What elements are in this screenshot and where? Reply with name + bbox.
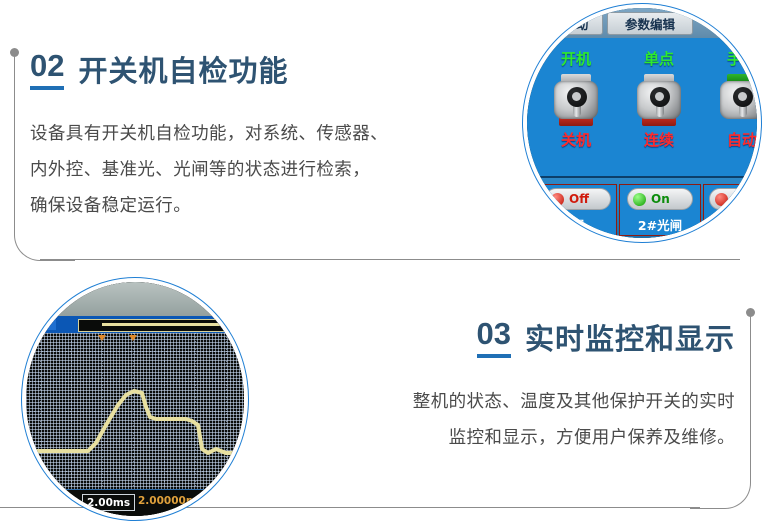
panel-switch-0[interactable]: 开机 关机 [543, 48, 609, 150]
section-03-title: 实时监控和显示 [525, 326, 735, 358]
panel-button-0-pill: Off [545, 188, 611, 210]
panel-button-2[interactable] [703, 184, 757, 236]
panel-button-2-pill [709, 188, 757, 210]
panel-switch-0-on-label: 开机 [543, 48, 609, 69]
panel-switch-2-off-label: 自动 [709, 129, 757, 150]
scope-timebase: 2.00ms [82, 494, 135, 511]
scope-time-value: 2.00000ms [138, 495, 203, 507]
panel-tab-0[interactable]: 动 [561, 12, 603, 35]
led-green-icon [633, 193, 646, 206]
control-panel-photo: 动 参数编辑 开机 关机 单点 [527, 8, 757, 238]
panel-switch-0-off-label: 关机 [543, 129, 609, 150]
panel-switch-2-on-label: 手动 [709, 48, 757, 69]
scope-overview-trace [102, 323, 222, 326]
control-panel-screen: 动 参数编辑 开机 关机 单点 [527, 8, 757, 238]
led-red-icon [715, 193, 728, 206]
toggle-body [554, 81, 598, 119]
section-02-line-2: 内外控、基准光、光闸等的状态进行检索， [30, 152, 460, 188]
section-03-number: 03 [477, 318, 511, 358]
panel-switch-2[interactable]: 手动 自动 [709, 48, 757, 150]
panel-tab-1[interactable]: 参数编辑 [607, 12, 693, 35]
section-02: 02 开关机自检功能 设备具有开关机自检功能，对系统、传感器、 内外控、基准光、… [30, 50, 460, 224]
oscilloscope-photo: 2.00ms 2.00000ms [26, 282, 244, 516]
section-02-line-1: 设备具有开关机自检功能，对系统、传感器、 [30, 116, 460, 152]
panel-button-1-pill: On [627, 188, 693, 210]
scope-waveform [26, 333, 244, 490]
section-02-body: 设备具有开关机自检功能，对系统、传感器、 内外控、基准光、光闸等的状态进行检索，… [30, 116, 460, 224]
rail-left-extension [40, 259, 740, 260]
toggle-body [720, 81, 757, 119]
led-red-icon [551, 193, 564, 206]
panel-button-1-state: On [651, 192, 670, 206]
panel-switch-1[interactable]: 单点 连续 [626, 48, 692, 150]
toggle-switch-icon[interactable] [635, 74, 683, 126]
promo-layout: 02 开关机自检功能 设备具有开关机自检功能，对系统、传感器、 内外控、基准光、… [0, 0, 765, 527]
panel-button-0-caption: 闸 [540, 215, 616, 234]
section-03-body: 整机的状态、温度及其他保护开关的实时 监控和显示，方便用户保养及维修。 [300, 384, 735, 456]
section-03-heading: 03 实时监控和显示 [300, 318, 735, 358]
scope-readout-bar: 2.00ms 2.00000ms [26, 489, 244, 516]
panel-button-0-state: Off [569, 192, 589, 206]
section-02-heading: 02 开关机自检功能 [30, 50, 460, 90]
toggle-switch-icon[interactable] [552, 74, 600, 126]
section-02-number: 02 [30, 50, 64, 90]
section-03: 03 实时监控和显示 整机的状态、温度及其他保护开关的实时 监控和显示，方便用户… [300, 318, 735, 456]
scope-overview-bar [26, 316, 244, 333]
toggle-knob [733, 87, 753, 107]
toggle-knob [567, 87, 587, 107]
section-03-line-2: 监控和显示，方便用户保养及维修。 [300, 420, 735, 456]
section-02-line-3: 确保设备稳定运行。 [30, 188, 460, 224]
panel-button-0[interactable]: Off 闸 [539, 184, 617, 236]
scope-bezel [26, 282, 244, 316]
panel-button-1[interactable]: On 2#光闸 [619, 184, 701, 236]
toggle-switch-icon[interactable] [718, 74, 757, 126]
toggle-knob [650, 87, 670, 107]
oscilloscope-screen: 2.00ms 2.00000ms [26, 282, 244, 516]
section-03-line-1: 整机的状态、温度及其他保护开关的实时 [300, 384, 735, 420]
section-02-title: 开关机自检功能 [78, 58, 288, 90]
panel-switch-1-off-label: 连续 [626, 129, 692, 150]
toggle-body [637, 81, 681, 119]
panel-button-1-caption: 2#光闸 [620, 215, 700, 234]
panel-button-bar: Off 闸 On 2#光闸 [527, 176, 757, 238]
panel-switch-1-on-label: 单点 [626, 48, 692, 69]
scope-channel-tag [30, 319, 56, 330]
